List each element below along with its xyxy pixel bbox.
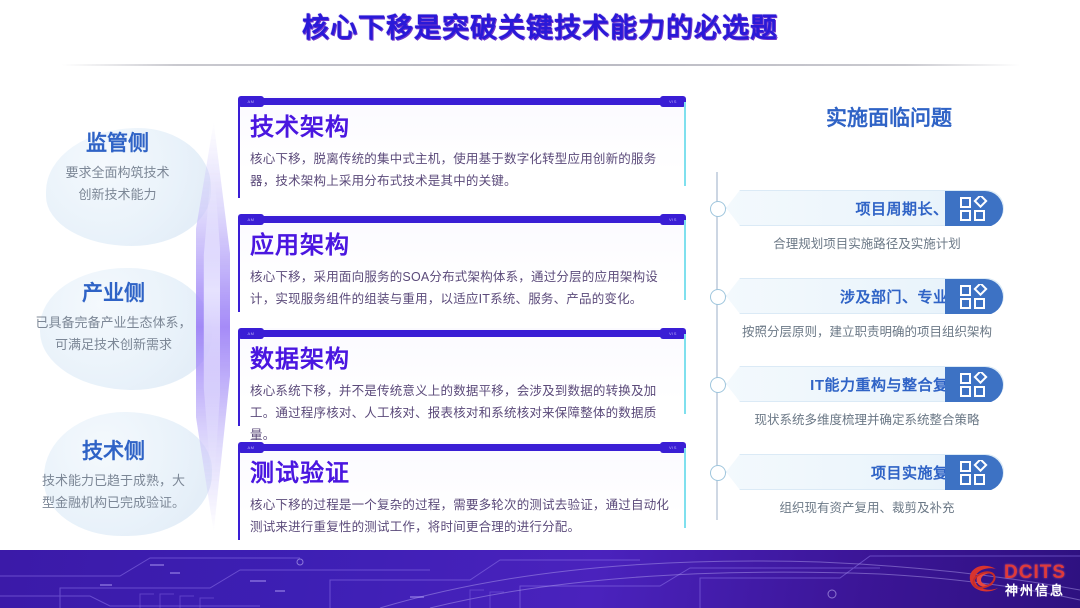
card-tab-left: AM [238, 96, 264, 107]
card-tab-left-text: AM [238, 96, 264, 107]
grid-diamond-icon [945, 455, 1003, 491]
page-title: 核心下移是突破关键技术能力的必选题 [0, 8, 1080, 48]
card-top-bar [248, 216, 676, 223]
card-tab-left: AM [238, 328, 264, 339]
card-body: 核心下移，采用面向服务的SOA分布式架构体系，通过分层的应用架构设计，实现服务组… [250, 266, 674, 310]
left-block-regulatory: 监管侧 要求全面构筑技术 创新技术能力 [10, 130, 225, 206]
issue-pill-4[interactable]: 项目实施复杂度高 [726, 454, 1004, 490]
card-tab-right-text: VIS [660, 442, 686, 453]
card-tab-right: VIS [660, 442, 686, 453]
card-test-validation[interactable]: AM VIS 测试验证 核心下移的过程是一个复杂的过程，需要多轮次的测试去验证，… [238, 442, 686, 546]
left-block-heading: 监管侧 [10, 130, 225, 158]
grid-diamond-icon [945, 367, 1003, 403]
right-panel-title: 实施面临问题 [718, 104, 1060, 134]
issue-sub: 按照分层原则，建立职责明确的项目组织架构 [726, 322, 1008, 342]
card-tab-right-text: VIS [660, 214, 686, 225]
grid-diamond-icon [945, 279, 1003, 315]
issue-pill-2[interactable]: 涉及部门、专业领域多 [726, 278, 1004, 314]
title-divider [62, 64, 1020, 66]
card-left-edge [238, 448, 240, 540]
card-app-architecture[interactable]: AM VIS 应用架构 核心下移，采用面向服务的SOA分布式架构体系，通过分层的… [238, 214, 686, 318]
card-body: 核心系统下移，并不是传统意义上的数据平移，会涉及到数据的转换及加工。通过程序核对… [250, 380, 674, 446]
timeline-dot [710, 201, 726, 217]
card-top-bar [248, 330, 676, 337]
card-left-edge [238, 102, 240, 198]
right-column: 实施面临问题 项目周期长、任务重 合理规划项目实施路径及实施计划 [700, 104, 1060, 534]
issue-sub: 合理规划项目实施路径及实施计划 [726, 234, 1008, 254]
left-block-line2: 型金融机构已完成验证。 [6, 492, 221, 514]
card-tab-left: AM [238, 442, 264, 453]
card-title: 技术架构 [250, 112, 674, 144]
grid-diamond-icon [945, 191, 1003, 227]
card-tab-right: VIS [660, 96, 686, 107]
card-title: 应用架构 [250, 230, 674, 262]
timeline-dot [710, 289, 726, 305]
left-block-line1: 技术能力已趋于成熟，大 [6, 470, 221, 492]
card-tab-right-text: VIS [660, 328, 686, 339]
card-tab-right-text: VIS [660, 96, 686, 107]
timeline-dot [710, 465, 726, 481]
card-right-edge [684, 334, 686, 414]
card-title: 数据架构 [250, 344, 674, 376]
issue-pill-1[interactable]: 项目周期长、任务重 [726, 190, 1004, 226]
card-left-edge [238, 334, 240, 426]
left-block-industry: 产业侧 已具备完备产业生态体系， 可满足技术创新需求 [6, 280, 221, 356]
logo-chinese-name: 神州信息 [1005, 584, 1065, 597]
left-block-line2: 可满足技术创新需求 [6, 334, 221, 356]
left-block-heading: 产业侧 [6, 280, 221, 308]
left-block-line1: 要求全面构筑技术 [10, 162, 225, 184]
card-title: 测试验证 [250, 458, 674, 490]
card-body: 核心下移的过程是一个复杂的过程，需要多轮次的测试去验证，通过自动化测试来进行重复… [250, 494, 674, 538]
card-tab-right: VIS [660, 328, 686, 339]
left-block-heading: 技术侧 [6, 438, 221, 466]
bottom-banner: DCITS 神州信息 [0, 550, 1080, 608]
card-tab-left-text: AM [238, 442, 264, 453]
card-data-architecture[interactable]: AM VIS 数据架构 核心系统下移，并不是传统意义上的数据平移，会涉及到数据的… [238, 328, 686, 432]
card-tab-left-text: AM [238, 328, 264, 339]
card-top-bar [248, 98, 676, 105]
issue-pill-3[interactable]: IT能力重构与整合复杂度高 [726, 366, 1004, 402]
timeline-dot [710, 377, 726, 393]
left-block-line1: 已具备完备产业生态体系， [6, 312, 221, 334]
card-tab-right: VIS [660, 214, 686, 225]
card-body: 核心下移，脱离传统的集中式主机，使用基于数字化转型应用创新的服务器，技术架构上采… [250, 148, 674, 192]
card-left-edge [238, 220, 240, 312]
company-logo: DCITS 神州信息 [964, 558, 1066, 602]
issue-sub: 现状系统多维度梳理并确定系统整合策略 [726, 410, 1008, 430]
card-tech-architecture[interactable]: AM VIS 技术架构 核心下移，脱离传统的集中式主机，使用基于数字化转型应用创… [238, 96, 686, 204]
card-right-edge [684, 102, 686, 186]
card-right-edge [684, 448, 686, 528]
card-top-bar [248, 444, 676, 451]
logo-text-group: DCITS 神州信息 [1004, 563, 1066, 597]
title-area: 核心下移是突破关键技术能力的必选题 [0, 8, 1080, 48]
dcits-swirl-icon [964, 563, 1002, 597]
card-tab-left: AM [238, 214, 264, 225]
issue-sub: 组织现有资产复用、裁剪及补充 [726, 498, 1008, 518]
architecture-card-list: AM VIS 技术架构 核心下移，脱离传统的集中式主机，使用基于数字化转型应用创… [238, 96, 686, 556]
logo-english-name: DCITS [1004, 563, 1066, 582]
slide-root: 核心下移是突破关键技术能力的必选题 监管侧 要求全面构筑技术 创新技术能力 产业… [0, 0, 1080, 608]
left-block-line2: 创新技术能力 [10, 184, 225, 206]
card-right-edge [684, 220, 686, 300]
circuit-pattern [0, 550, 1080, 608]
card-tab-left-text: AM [238, 214, 264, 225]
left-block-technology: 技术侧 技术能力已趋于成熟，大 型金融机构已完成验证。 [6, 438, 221, 514]
